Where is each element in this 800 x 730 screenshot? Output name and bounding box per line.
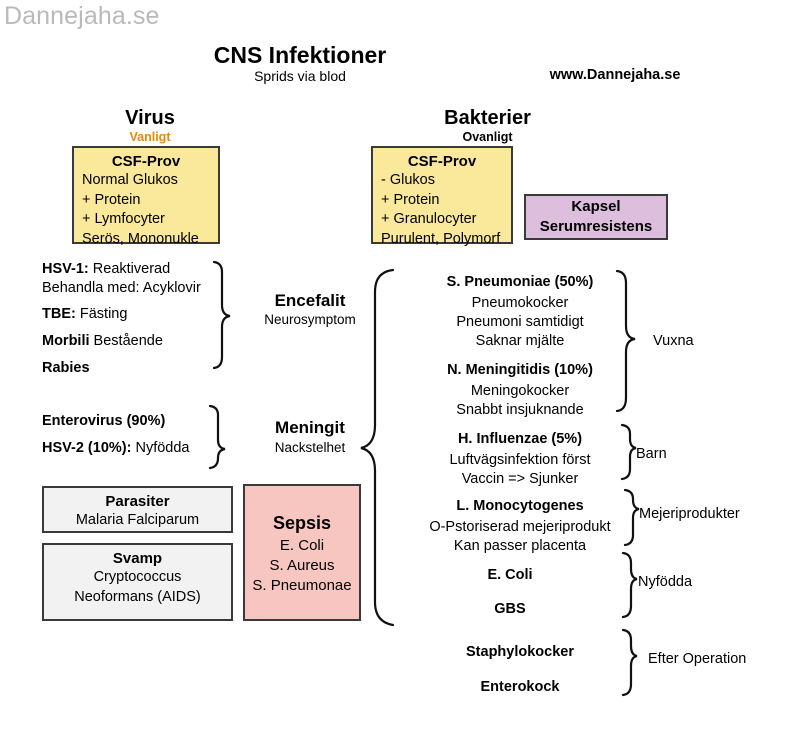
svamp-title: Svamp <box>52 549 223 568</box>
bacteria-organism-detail: Saknar mjälte <box>420 332 620 350</box>
brace-nyfodda <box>623 553 637 617</box>
meningit-group-sub: Nackstelhet <box>240 440 380 455</box>
brace-efter-operation <box>623 630 637 695</box>
kapsel-serumresistens-box: Kapsel Serumresistens <box>524 194 668 240</box>
bacteria-group-label-mejeriprodukter: Mejeriprodukter <box>639 506 740 522</box>
column-heading-bakterier: Bakterier <box>385 107 590 130</box>
parasiter-box: Parasiter Malaria Falciparum <box>42 486 233 533</box>
meningit-virus-item-bold: Enterovirus (90%) <box>42 413 165 429</box>
encefalit-item: Morbili Bestående <box>42 332 163 350</box>
bacteria-organism-detail: Vaccin => Sjunker <box>420 470 620 488</box>
encefalit-item: Rabies <box>42 359 90 377</box>
encefalit-item: TBE: Fästing <box>42 305 127 323</box>
csf-prov-virus-line: Serös, Mononukle <box>82 230 210 250</box>
sepsis-box: Sepsis E. Coli S. Aureus S. Pneumonae <box>243 484 361 621</box>
bacteria-organism-detail: Snabbt insjuknande <box>420 401 620 419</box>
csf-prov-bakterier-line: + Granulocyter <box>381 210 503 230</box>
bacteria-group-label-nyfodda: Nyfödda <box>638 574 692 590</box>
bacteria-organism-detail: Luftvägsinfektion först <box>420 451 620 469</box>
bacteria-organism-name: GBS <box>420 600 600 618</box>
bacteria-group-label-barn: Barn <box>636 446 667 462</box>
csf-prov-virus-line: + Lymfocyter <box>82 210 210 230</box>
column-heading-virus: Virus <box>60 107 240 130</box>
csf-prov-virus-line: + Protein <box>82 191 210 211</box>
bacteria-organism-name: Enterokock <box>420 678 620 696</box>
encefalit-group-title: Encefalit <box>240 291 380 311</box>
brace-barn <box>622 425 636 479</box>
meningit-virus-item-rest: Nyfödda <box>131 440 189 456</box>
bacteria-organism-name: E. Coli <box>420 566 600 584</box>
site-url-label: www.Dannejaha.se <box>450 67 780 83</box>
encefalit-item-rest: Fästing <box>76 306 128 322</box>
encefalit-item-rest: Bestående <box>90 333 163 349</box>
csf-prov-bakterier-title: CSF-Prov <box>381 152 503 171</box>
meningit-group-title: Meningit <box>240 418 380 438</box>
diagram-canvas: Dannejaha.se CNS Infektioner Sprids via … <box>0 0 800 730</box>
bacteria-organism-detail: Pneumoni samtidigt <box>420 313 620 331</box>
watermark-dannejaha: Dannejaha.se <box>4 2 160 31</box>
csf-prov-bakterier-box: CSF-Prov - Glukos + Protein + Granulocyt… <box>371 146 513 244</box>
csf-prov-bakterier-line: + Protein <box>381 191 503 211</box>
sepsis-line: E. Coli <box>280 536 324 556</box>
bacteria-group-label-vuxna: Vuxna <box>653 333 694 349</box>
meningit-virus-item: Enterovirus (90%) <box>42 412 165 430</box>
encefalit-item-rest: Reaktiverad <box>89 261 170 277</box>
bacteria-organism-name: S. Pneumoniae (50%) <box>420 273 620 291</box>
kapsel-subtitle: Serumresistens <box>540 217 653 237</box>
encefalit-item-bold: Rabies <box>42 360 90 376</box>
sepsis-line: S. Pneumonae <box>252 576 351 596</box>
bacteria-group-label-efter-operation: Efter Operation <box>648 651 746 667</box>
encefalit-item-rest: Behandla med: Acyklovir <box>42 280 201 296</box>
encefalit-item-bold: Morbili <box>42 333 90 349</box>
column-sub-virus: Vanligt <box>60 130 240 144</box>
encefalit-group-sub: Neurosymptom <box>240 312 380 327</box>
sepsis-line: S. Aureus <box>269 556 334 576</box>
svamp-line: Neoformans (AIDS) <box>52 588 223 608</box>
encefalit-item-bold: TBE: <box>42 306 76 322</box>
brace-meningit-virus <box>210 406 225 468</box>
parasiter-line: Malaria Falciparum <box>52 511 223 531</box>
csf-prov-virus-line: Normal Glukos <box>82 171 210 191</box>
kapsel-title: Kapsel <box>571 197 620 217</box>
bacteria-organism-name: H. Influenzae (5%) <box>420 430 620 448</box>
svamp-box: Svamp Cryptococcus Neoformans (AIDS) <box>42 543 233 621</box>
csf-prov-virus-title: CSF-Prov <box>82 152 210 171</box>
parasiter-title: Parasiter <box>52 492 223 511</box>
encefalit-item-bold: HSV-1: <box>42 261 89 277</box>
bacteria-organism-name: L. Monocytogenes <box>412 497 628 515</box>
encefalit-item: HSV-1: Reaktiverad <box>42 260 170 278</box>
csf-prov-virus-box: CSF-Prov Normal Glukos + Protein + Lymfo… <box>72 146 220 244</box>
meningit-virus-item-bold: HSV-2 (10%): <box>42 440 131 456</box>
bacteria-organism-detail: Kan passer placenta <box>412 537 628 555</box>
encefalit-item: Behandla med: Acyklovir <box>42 279 201 297</box>
page-title: CNS Infektioner <box>0 42 600 69</box>
column-sub-bakterier: Ovanligt <box>385 130 590 144</box>
bacteria-organism-name: N. Meningitidis (10%) <box>420 361 620 379</box>
meningit-virus-item: HSV-2 (10%): Nyfödda <box>42 439 190 457</box>
bacteria-organism-name: Staphylokocker <box>420 643 620 661</box>
sepsis-title: Sepsis <box>273 510 331 536</box>
csf-prov-bakterier-line: Purulent, Polymorf <box>381 230 503 250</box>
svamp-line: Cryptococcus <box>52 568 223 588</box>
bacteria-organism-detail: Meningokocker <box>420 382 620 400</box>
brace-encefalit <box>214 262 230 368</box>
csf-prov-bakterier-line: - Glukos <box>381 171 503 191</box>
bacteria-organism-detail: Pneumokocker <box>420 294 620 312</box>
bacteria-organism-detail: O-Pstoriserad mejeriprodukt <box>412 518 628 536</box>
